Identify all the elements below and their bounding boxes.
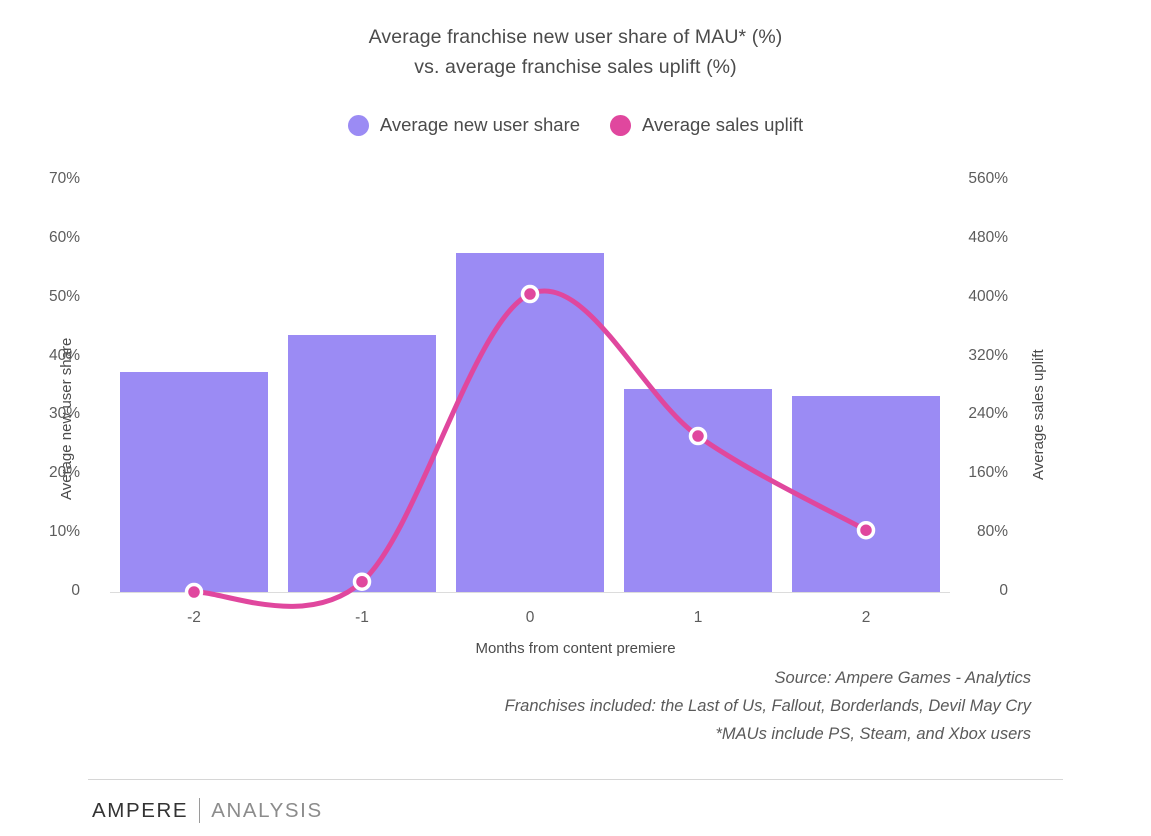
x-axis-title: Months from content premiere [0, 640, 1151, 657]
y-axis-right-tick: 400% [938, 288, 1008, 306]
bar[interactable] [288, 335, 436, 592]
y-axis-right-tick: 320% [938, 347, 1008, 365]
y-axis-right-tick: 240% [938, 405, 1008, 423]
y-axis-right-tick: 480% [938, 229, 1008, 247]
note-maus: *MAUs include PS, Steam, and Xbox users [505, 720, 1031, 748]
y-axis-left-tick: 20% [20, 464, 80, 482]
note-source: Source: Ampere Games - Analytics [505, 664, 1031, 692]
logo-divider-icon [199, 798, 200, 823]
bar[interactable] [120, 372, 268, 592]
bar[interactable] [792, 396, 940, 592]
logo-secondary-text: ANALYSIS [211, 799, 323, 823]
footer-divider [88, 779, 1063, 780]
y-axis-right-tick: 80% [938, 523, 1008, 541]
y-axis-left-tick: 10% [20, 523, 80, 541]
bar[interactable] [624, 389, 772, 592]
note-franchises: Franchises included: the Last of Us, Fal… [505, 692, 1031, 720]
y-axis-right-tick: 0 [938, 582, 1008, 600]
chart-notes: Source: Ampere Games - Analytics Franchi… [505, 664, 1031, 748]
y-axis-right-tick: 560% [938, 170, 1008, 188]
y-axis-left-tick: 0 [20, 582, 80, 600]
axis-baseline [110, 592, 950, 593]
x-axis-tick: 0 [490, 609, 570, 627]
y-axis-right-tick: 160% [938, 464, 1008, 482]
x-axis-tick: 1 [658, 609, 738, 627]
x-axis-tick: -1 [322, 609, 402, 627]
logo-primary-text: AMPERE [92, 799, 188, 823]
ampere-analysis-logo: AMPERE ANALYSIS [92, 798, 323, 823]
y-axis-left-tick: 60% [20, 229, 80, 247]
chart-page: Average franchise new user share of MAU*… [0, 0, 1151, 836]
y-axis-left-tick: 70% [20, 170, 80, 188]
x-axis-tick: -2 [154, 609, 234, 627]
y-axis-title-right: Average sales uplift [1030, 349, 1047, 480]
x-axis-tick: 2 [826, 609, 906, 627]
y-axis-left-tick: 40% [20, 347, 80, 365]
y-axis-left-tick: 30% [20, 405, 80, 423]
bar[interactable] [456, 253, 604, 592]
y-axis-left-tick: 50% [20, 288, 80, 306]
